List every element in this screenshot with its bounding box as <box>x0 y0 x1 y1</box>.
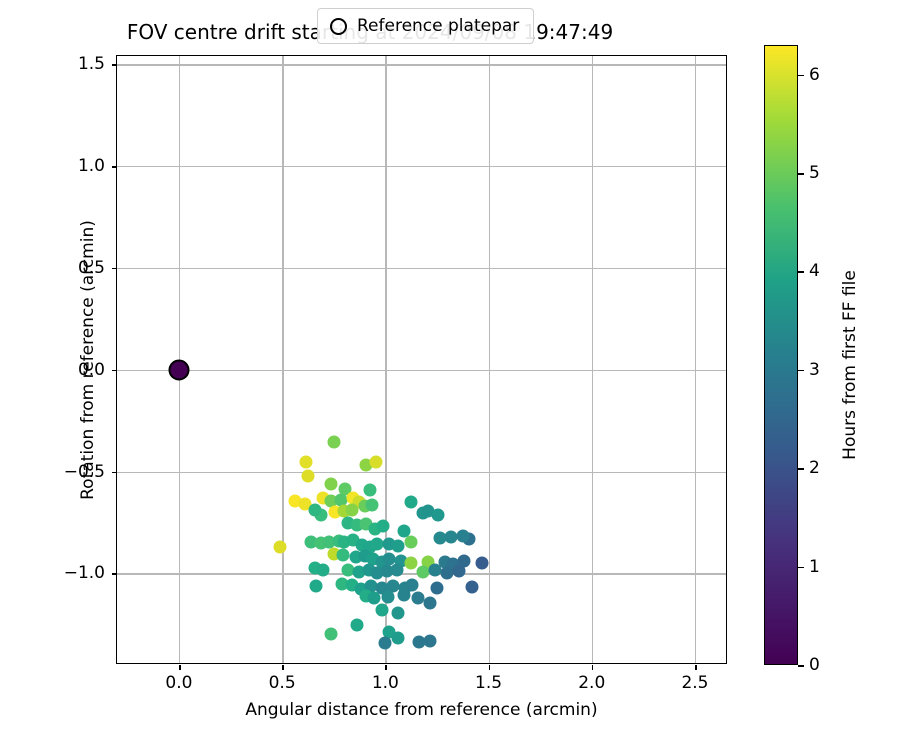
scatter-point <box>405 535 418 548</box>
x-tick <box>695 665 697 670</box>
colorbar-tick-label: 3 <box>809 360 820 380</box>
scatter-point <box>299 456 312 469</box>
y-tick <box>112 573 117 575</box>
scatter-point <box>476 557 489 570</box>
colorbar-tick-label: 6 <box>809 65 820 85</box>
scatter-point <box>405 496 418 509</box>
y-tick <box>112 268 117 270</box>
x-tick-label: 1.0 <box>372 673 399 693</box>
colorbar-tick-label: 5 <box>809 163 820 183</box>
scatter-point <box>324 628 337 641</box>
colorbar-tick-label: 0 <box>809 655 820 675</box>
colorbar-tick <box>798 370 804 372</box>
colorbar-tick <box>798 271 804 273</box>
reference-platepar-marker-icon <box>330 18 347 35</box>
scatter-point <box>466 580 479 593</box>
scatter-point <box>430 581 443 594</box>
scatter-point <box>317 564 330 577</box>
scatter-point <box>456 529 469 542</box>
x-tick-label: 0.0 <box>165 673 192 693</box>
scatter-point <box>377 520 390 533</box>
colorbar-tick <box>798 75 804 77</box>
scatter-point <box>337 549 350 562</box>
colorbar-tick-label: 2 <box>809 458 820 478</box>
reference-platepar-point <box>168 359 189 380</box>
colorbar-tick <box>798 468 804 470</box>
scatter-point <box>346 504 359 517</box>
colorbar-tick <box>798 567 804 569</box>
scatter-point <box>365 499 378 512</box>
scatter-point <box>452 565 465 578</box>
scatter-point <box>423 634 436 647</box>
x-tick <box>179 665 181 670</box>
scatter-point <box>397 588 410 601</box>
x-axis-label: Angular distance from reference (arcmin) <box>116 700 727 720</box>
scatter-point <box>382 590 395 603</box>
scatter-point <box>379 636 392 649</box>
scatter-point <box>310 579 323 592</box>
legend: Reference platepar <box>317 8 534 44</box>
x-tick-label: 1.5 <box>475 673 502 693</box>
scatter-point <box>274 540 287 553</box>
scatter-point <box>324 477 337 490</box>
colorbar-label: Hours from first FF file <box>840 55 860 675</box>
scatter-point <box>405 557 418 570</box>
scatter-point <box>423 596 436 609</box>
scatter-point <box>390 564 403 577</box>
scatter-point <box>376 604 389 617</box>
scatter-point <box>363 483 376 496</box>
chart-figure: FOV centre drift starting at 2024/09/08 … <box>0 0 900 750</box>
colorbar-tick-label: 1 <box>809 557 820 577</box>
x-tick-label: 0.5 <box>269 673 296 693</box>
scatter-point <box>391 607 404 620</box>
scatter-point <box>367 591 380 604</box>
scatter-point <box>327 435 340 448</box>
x-tick <box>489 665 491 670</box>
colorbar-tick-label: 4 <box>809 261 820 281</box>
scatter-point <box>351 619 364 632</box>
y-tick <box>112 64 117 66</box>
colorbar-tick <box>798 665 804 667</box>
scatter-point <box>431 509 444 522</box>
y-tick <box>112 472 117 474</box>
colorbar-tick <box>798 173 804 175</box>
x-tick-label: 2.0 <box>578 673 605 693</box>
x-tick <box>592 665 594 670</box>
colorbar <box>764 45 798 665</box>
scatter-point <box>301 469 314 482</box>
scatter-points-layer <box>117 56 726 663</box>
scatter-point <box>428 564 441 577</box>
y-tick <box>112 370 117 372</box>
scatter-point <box>391 539 404 552</box>
x-tick-label: 2.5 <box>681 673 708 693</box>
plot-axes: 0.00.51.01.52.02.51.51.00.50.0−0.5−1.0 <box>116 55 727 664</box>
y-axis-label: Rotation from reference (arcmin) <box>78 50 98 670</box>
scatter-point <box>391 631 404 644</box>
scatter-point <box>370 456 383 469</box>
scatter-point <box>416 566 429 579</box>
scatter-point <box>309 504 322 517</box>
scatter-point <box>371 537 384 550</box>
x-tick <box>385 665 387 670</box>
y-tick <box>112 166 117 168</box>
legend-label-reference-platepar: Reference platepar <box>357 16 519 36</box>
x-tick <box>282 665 284 670</box>
